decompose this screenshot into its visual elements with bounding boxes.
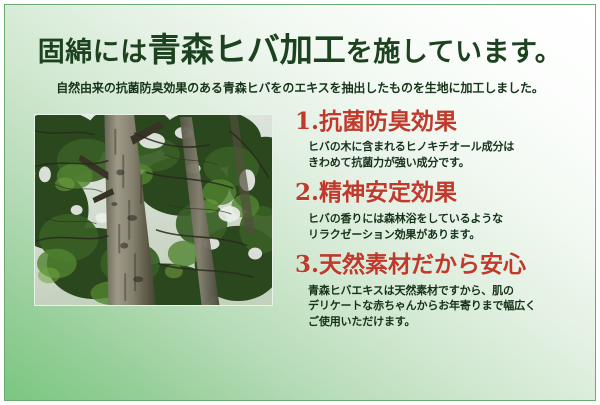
benefit-title-1: 1.抗菌防臭効果 bbox=[295, 108, 589, 137]
forest-photo-illustration bbox=[35, 115, 272, 305]
subtitle: 自然由来の抗菌防臭効果のある青森ヒバをのエキスを抽出したものを生地に加工しました… bbox=[5, 81, 595, 97]
benefit-heading-3: 天然素材だから安心 bbox=[319, 251, 526, 278]
benefit-item-3: 3.天然素材だから安心 青森ヒバエキスは天然素材ですから、肌の デリケートな赤ち… bbox=[295, 251, 589, 331]
benefit-number-2: 2. bbox=[295, 179, 319, 206]
benefit-list: 1.抗菌防臭効果 ヒバの木に含まれるヒノキチオール成分は きわめて抗菌力が強い成… bbox=[295, 108, 589, 331]
benefit-body-3: 青森ヒバエキスは天然素材ですから、肌の デリケートな赤ちゃんからお年寄りまで幅広… bbox=[308, 283, 589, 331]
page-title: 固綿には青森ヒバ加工を施しています。 bbox=[5, 31, 595, 69]
benefit-title-3: 3.天然素材だから安心 bbox=[295, 251, 589, 280]
banner-header: 固綿には青森ヒバ加工を施しています。 自然由来の抗菌防臭効果のある青森ヒバをのエ… bbox=[5, 5, 595, 97]
benefit-title-2: 2.精神安定効果 bbox=[295, 179, 589, 208]
benefit-item-2: 2.精神安定効果 ヒバの香りには森林浴をしているような リラクゼーション効果があ… bbox=[295, 179, 589, 243]
title-tail: を施しています。 bbox=[346, 37, 563, 68]
banner-background: 固綿には青森ヒバ加工を施しています。 自然由来の抗菌防臭効果のある青森ヒバをのエ… bbox=[4, 4, 596, 401]
title-lead: 固綿には bbox=[38, 37, 148, 68]
benefit-body-1: ヒバの木に含まれるヒノキチオール成分は きわめて抗菌力が強い成分です。 bbox=[308, 139, 589, 171]
benefit-heading-1: 抗菌防臭効果 bbox=[319, 108, 457, 135]
benefit-number-1: 1. bbox=[295, 108, 319, 135]
benefit-heading-2: 精神安定効果 bbox=[319, 179, 457, 206]
benefit-number-3: 3. bbox=[295, 251, 319, 278]
hiba-promo-banner: 固綿には青森ヒバ加工を施しています。 自然由来の抗菌防臭効果のある青森ヒバをのエ… bbox=[0, 0, 600, 405]
title-emphasis: 青森ヒバ加工 bbox=[148, 30, 346, 69]
banner-content: 1.抗菌防臭効果 ヒバの木に含まれるヒノキチオール成分は きわめて抗菌力が強い成… bbox=[5, 114, 595, 364]
benefit-body-2: ヒバの香りには森林浴をしているような リラクゼーション効果があります。 bbox=[308, 211, 589, 243]
benefit-item-1: 1.抗菌防臭効果 ヒバの木に含まれるヒノキチオール成分は きわめて抗菌力が強い成… bbox=[295, 108, 589, 172]
hiba-forest-photo bbox=[34, 114, 273, 306]
